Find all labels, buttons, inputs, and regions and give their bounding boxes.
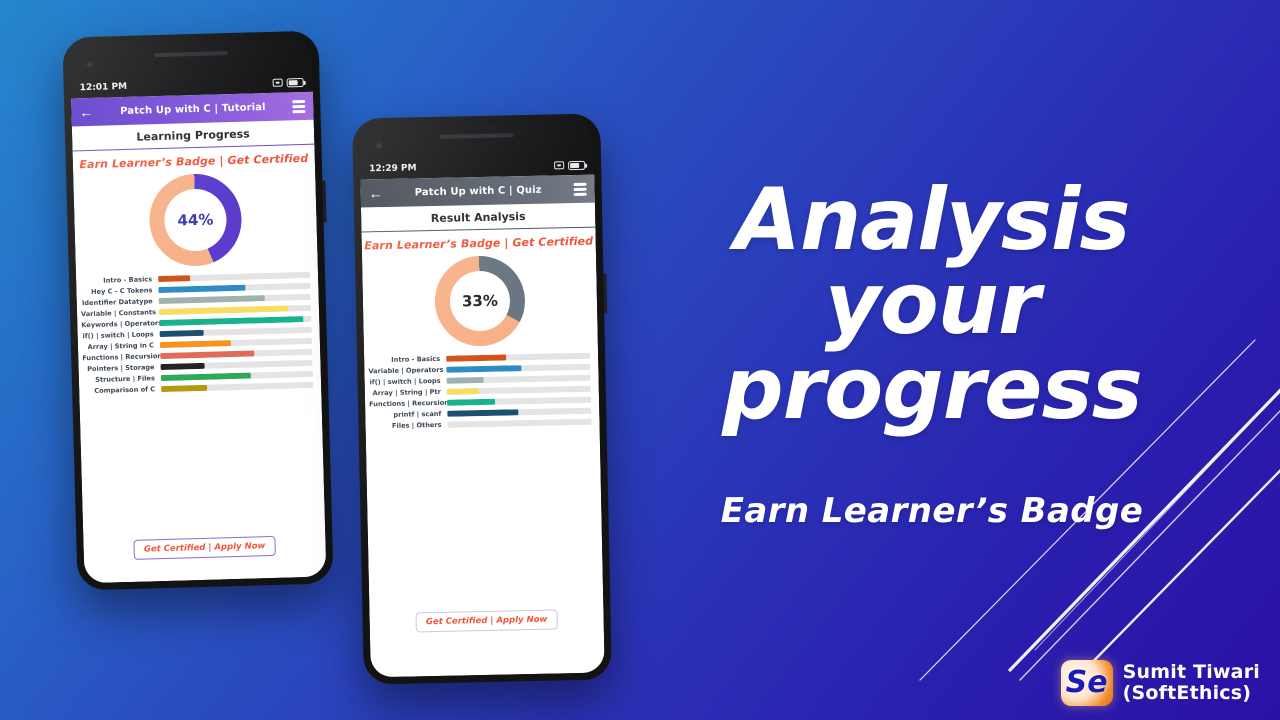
- brand-name-line-1: Sumit Tiwari: [1123, 662, 1260, 683]
- stack-menu-icon[interactable]: [292, 99, 305, 112]
- phone2-cta-wrap: Get Certified | Apply Now: [369, 609, 603, 634]
- phone1-donut-wrap: 44%: [73, 167, 318, 276]
- status-time: 12:29 PM: [369, 163, 417, 174]
- learning-progress-donut-chart: 44%: [148, 173, 243, 268]
- bar-label: Comparison of C: [83, 385, 155, 395]
- phone2-side-button: [603, 273, 607, 313]
- bar-fill: [158, 284, 245, 293]
- phone1-bar-chart: Intro - BasicsHey C - C TokensIdentifier…: [76, 269, 321, 396]
- bar-fill: [159, 305, 288, 315]
- bar-fill: [161, 372, 251, 381]
- phone-mockup-quiz: 12:29 PM ← Patch Up with C | Quiz Result…: [352, 113, 612, 684]
- bar-fill: [447, 409, 518, 417]
- app-bar-title: Patch Up with C | Tutorial: [101, 101, 284, 117]
- bar-track: [158, 283, 310, 294]
- bar-track: [447, 396, 591, 406]
- bar-fill: [446, 354, 507, 362]
- bar-fill: [160, 340, 232, 348]
- bar-track: [160, 338, 312, 349]
- bar-fill: [160, 363, 204, 371]
- bar-track: [447, 374, 591, 384]
- bar-label: Array | String | Ptr: [369, 388, 441, 398]
- bar-track: [160, 327, 312, 338]
- headline-line-2: progress: [632, 347, 1232, 431]
- status-time: 12:01 PM: [80, 82, 128, 93]
- get-certified-button[interactable]: Get Certified | Apply Now: [134, 536, 276, 560]
- bar-fill: [446, 365, 521, 373]
- donut-center-label: 33%: [449, 270, 510, 331]
- phone2-bar-chart: Intro - BasicsVariable | Operatorsif() |…: [364, 350, 600, 431]
- phone2-top-bezel: [359, 121, 594, 160]
- sim-icon: [554, 161, 564, 169]
- phone1-screen: ← Patch Up with C | Tutorial Learning Pr…: [71, 92, 326, 584]
- phone1-side-button: [322, 180, 326, 222]
- bar-track: [161, 371, 313, 382]
- bar-label: Functions | Recursion: [82, 352, 154, 362]
- bar-track: [446, 363, 590, 373]
- phone2-donut-wrap: 33%: [362, 250, 598, 355]
- bar-track: [447, 418, 591, 428]
- bar-label: if() | switch | Loops: [82, 330, 154, 340]
- bar-fill: [159, 295, 266, 304]
- get-certified-button[interactable]: Get Certified | Apply Now: [416, 609, 558, 632]
- back-arrow-icon[interactable]: ←: [369, 186, 383, 200]
- bar-track: [446, 352, 590, 362]
- bar-fill: [159, 316, 304, 327]
- battery-icon: [287, 77, 304, 86]
- bar-track: [159, 305, 311, 316]
- bar-label: Pointers | Storage: [82, 363, 154, 373]
- bar-label: Keywords | Operators: [81, 319, 153, 329]
- bar-label: Functions | Recursion: [369, 399, 441, 409]
- app-bar-title: Patch Up with C | Quiz: [391, 184, 566, 199]
- earpiece-speaker-icon: [439, 133, 513, 139]
- bar-label: Hey C - C Tokens: [80, 286, 152, 296]
- bar-fill: [160, 330, 204, 338]
- bar-label: Variable | Constants: [81, 308, 153, 318]
- phone1-bezel: 12:01 PM ← Patch Up with C | Tutorial Le…: [70, 38, 327, 584]
- sim-icon: [273, 79, 283, 87]
- bar-track: [159, 294, 311, 305]
- bar-track: [161, 382, 313, 393]
- bar-label: Intro - Basics: [368, 355, 440, 365]
- bar-label: Intro - Basics: [80, 275, 152, 285]
- brand-name-line-2: (SoftEthics): [1123, 683, 1260, 704]
- bar-track: [160, 360, 312, 371]
- bar-track: [158, 272, 310, 283]
- bar-label: Variable | Operators: [368, 366, 440, 376]
- softethics-logo-icon: Se: [1061, 660, 1113, 706]
- bar-fill: [161, 385, 207, 393]
- donut-center-label: 44%: [164, 188, 228, 252]
- phone-mockup-tutorial: 12:01 PM ← Patch Up with C | Tutorial Le…: [62, 31, 333, 591]
- bar-label: Identifier Datatype: [81, 297, 153, 307]
- bar-label: Array | String in C: [82, 341, 154, 351]
- bar-track: [160, 349, 312, 360]
- back-arrow-icon[interactable]: ←: [79, 105, 93, 119]
- bar-fill: [447, 398, 495, 405]
- promo-subline: Earn Learner’s Badge: [632, 491, 1232, 531]
- bar-track: [447, 407, 591, 417]
- phone2-bezel: 12:29 PM ← Patch Up with C | Quiz Result…: [359, 121, 605, 678]
- bar-label: Structure | Files: [83, 374, 155, 384]
- bar-fill: [447, 377, 485, 384]
- bar-fill: [447, 388, 479, 395]
- bar-track: [159, 316, 311, 327]
- phone1-cta-wrap: Get Certified | Apply Now: [83, 535, 325, 562]
- phone2-screen: ← Patch Up with C | Quiz Result Analysis…: [360, 175, 604, 678]
- stack-menu-icon[interactable]: [573, 182, 586, 195]
- front-camera-icon: [376, 142, 383, 149]
- headline-line-1: Analysis your: [734, 170, 1129, 354]
- bar-fill: [158, 275, 190, 282]
- bar-label: if() | switch | Loops: [369, 377, 441, 387]
- brand-name: Sumit Tiwari (SoftEthics): [1123, 662, 1260, 705]
- bar-fill: [160, 350, 254, 359]
- bar-track: [447, 385, 591, 395]
- result-analysis-donut-chart: 33%: [434, 255, 526, 347]
- bar-label: printf | scanf: [369, 410, 441, 420]
- brand-lockup: Se Sumit Tiwari (SoftEthics): [1061, 660, 1260, 706]
- battery-icon: [568, 160, 585, 169]
- promo-copy: Analysis your progress Earn Learner’s Ba…: [632, 178, 1232, 531]
- bar-label: Files | Others: [369, 421, 441, 431]
- bar-chart-row: Files | Others: [369, 418, 591, 431]
- page-title: Analysis your progress: [632, 178, 1232, 431]
- earpiece-speaker-icon: [154, 51, 228, 57]
- front-camera-icon: [86, 61, 93, 68]
